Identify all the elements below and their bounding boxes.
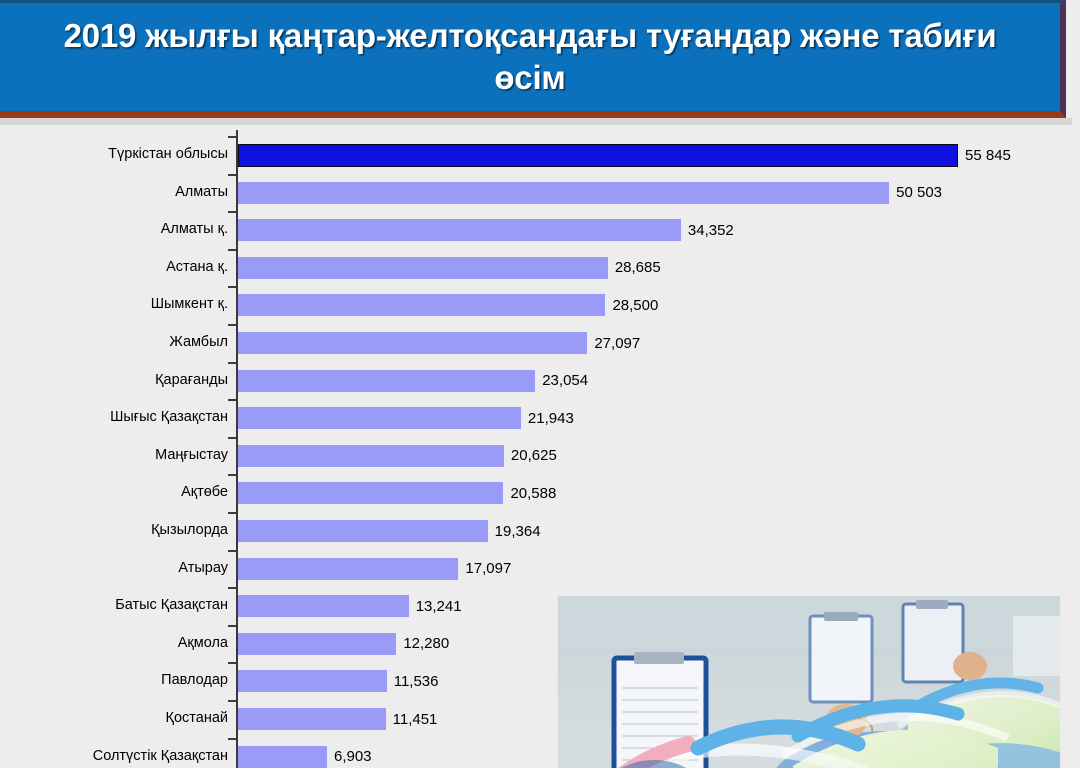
axis-tick [228, 324, 237, 326]
axis-tick [228, 136, 237, 138]
axis-tick [228, 211, 237, 213]
category-label: Қостанай [0, 700, 228, 738]
bar-row: Алматы қ.34,352 [0, 211, 1080, 249]
category-label: Алматы [0, 174, 228, 212]
bar[interactable] [238, 558, 458, 580]
bar-row: Атырау17,097 [0, 550, 1080, 588]
bar-and-value: 12,280 [238, 633, 449, 655]
bar-and-value: 13,241 [238, 595, 462, 617]
bar-and-value: 17,097 [238, 558, 511, 580]
bar-and-value: 27,097 [238, 332, 640, 354]
bar-and-value: 11,451 [238, 708, 437, 730]
bar-value-label: 11,451 [393, 711, 438, 728]
category-label: Атырау [0, 550, 228, 588]
axis-tick [228, 474, 237, 476]
bar-value-label: 21,943 [528, 410, 574, 427]
axis-tick [228, 587, 237, 589]
bar-value-label: 12,280 [403, 635, 449, 652]
category-label: Қарағанды [0, 362, 228, 400]
bar-and-value: 20,625 [238, 445, 557, 467]
newborns-photo: TMB [558, 596, 1060, 768]
bar[interactable] [238, 445, 504, 467]
bar[interactable] [238, 482, 503, 504]
slide-root: 2019 жылғы қаңтар-желтоқсандағы туғандар… [0, 0, 1080, 768]
bar-and-value: 34,352 [238, 219, 734, 241]
title-banner-shadow [0, 118, 1072, 125]
newborns-photo-illustration [558, 596, 1060, 768]
bar-and-value: 55 845 [238, 144, 1011, 166]
axis-tick [228, 550, 237, 552]
category-label: Алматы қ. [0, 211, 228, 249]
category-label: Шымкент қ. [0, 286, 228, 324]
bar-value-label: 27,097 [594, 335, 640, 352]
axis-tick [228, 512, 237, 514]
bar[interactable] [238, 708, 386, 730]
bar-row: Қарағанды23,054 [0, 362, 1080, 400]
bar-value-label: 6,903 [334, 748, 372, 765]
category-label: Ақтөбе [0, 474, 228, 512]
bar-highlighted[interactable] [238, 144, 958, 167]
bar-value-label: 19,364 [495, 523, 541, 540]
axis-tick [228, 362, 237, 364]
bar-row: Қызылорда19,364 [0, 512, 1080, 550]
bar[interactable] [238, 633, 396, 655]
bar-value-label: 55 845 [965, 147, 1011, 164]
bar-row: Шымкент қ.28,500 [0, 286, 1080, 324]
bar-row: Астана қ.28,685 [0, 249, 1080, 287]
bar-value-label: 20,588 [510, 485, 556, 502]
bar-and-value: 11,536 [238, 670, 438, 692]
axis-tick [228, 625, 237, 627]
bar-value-label: 34,352 [688, 222, 734, 239]
category-label: Батыс Қазақстан [0, 587, 228, 625]
bar-value-label: 23,054 [542, 372, 588, 389]
bar-value-label: 50 503 [896, 184, 942, 201]
bar-and-value: 28,500 [238, 294, 658, 316]
axis-tick [228, 662, 237, 664]
bar-value-label: 11,536 [394, 673, 439, 690]
bar-row: Маңғыстау20,625 [0, 437, 1080, 475]
category-label: Ақмола [0, 625, 228, 663]
bar[interactable] [238, 370, 535, 392]
bar[interactable] [238, 595, 409, 617]
axis-tick [228, 399, 237, 401]
bar-and-value: 21,943 [238, 407, 574, 429]
category-label: Павлодар [0, 662, 228, 700]
bar-value-label: 28,500 [612, 297, 658, 314]
category-label: Қызылорда [0, 512, 228, 550]
axis-tick [228, 286, 237, 288]
bar-and-value: 50 503 [238, 182, 942, 204]
bar[interactable] [238, 407, 521, 429]
bar-chart: Түркістан облысы55 845Алматы50 503Алматы… [0, 130, 1080, 768]
category-label: Астана қ. [0, 249, 228, 287]
category-label: Жамбыл [0, 324, 228, 362]
bar[interactable] [238, 294, 605, 316]
bar-value-label: 13,241 [416, 598, 462, 615]
bar-row: Алматы50 503 [0, 174, 1080, 212]
bar[interactable] [238, 670, 387, 692]
category-label: Шығыс Қазақстан [0, 399, 228, 437]
page-title: 2019 жылғы қаңтар-желтоқсандағы туғандар… [30, 15, 1030, 99]
bar-row: Ақтөбе20,588 [0, 474, 1080, 512]
bar-and-value: 23,054 [238, 370, 588, 392]
axis-tick [228, 437, 237, 439]
bar[interactable] [238, 520, 488, 542]
bar-and-value: 19,364 [238, 520, 541, 542]
bar[interactable] [238, 257, 608, 279]
axis-tick [228, 249, 237, 251]
title-banner: 2019 жылғы қаңтар-желтоқсандағы туғандар… [0, 0, 1066, 118]
axis-tick [228, 174, 237, 176]
bar-and-value: 20,588 [238, 482, 556, 504]
bar-value-label: 28,685 [615, 259, 661, 276]
category-label: Солтүстік Қазақстан [0, 738, 228, 768]
bar-row: Шығыс Қазақстан21,943 [0, 399, 1080, 437]
bar-value-label: 17,097 [465, 560, 511, 577]
bar[interactable] [238, 746, 327, 768]
bar-row: Жамбыл27,097 [0, 324, 1080, 362]
axis-tick [228, 738, 237, 740]
bar-and-value: 6,903 [238, 746, 372, 768]
axis-tick [228, 700, 237, 702]
bar[interactable] [238, 332, 587, 354]
category-label: Маңғыстау [0, 437, 228, 475]
bar-row: Түркістан облысы55 845 [0, 136, 1080, 174]
category-label: Түркістан облысы [0, 136, 228, 174]
bar-and-value: 28,685 [238, 257, 661, 279]
bar-value-label: 20,625 [511, 447, 557, 464]
bar[interactable] [238, 182, 889, 204]
bar[interactable] [238, 219, 681, 241]
